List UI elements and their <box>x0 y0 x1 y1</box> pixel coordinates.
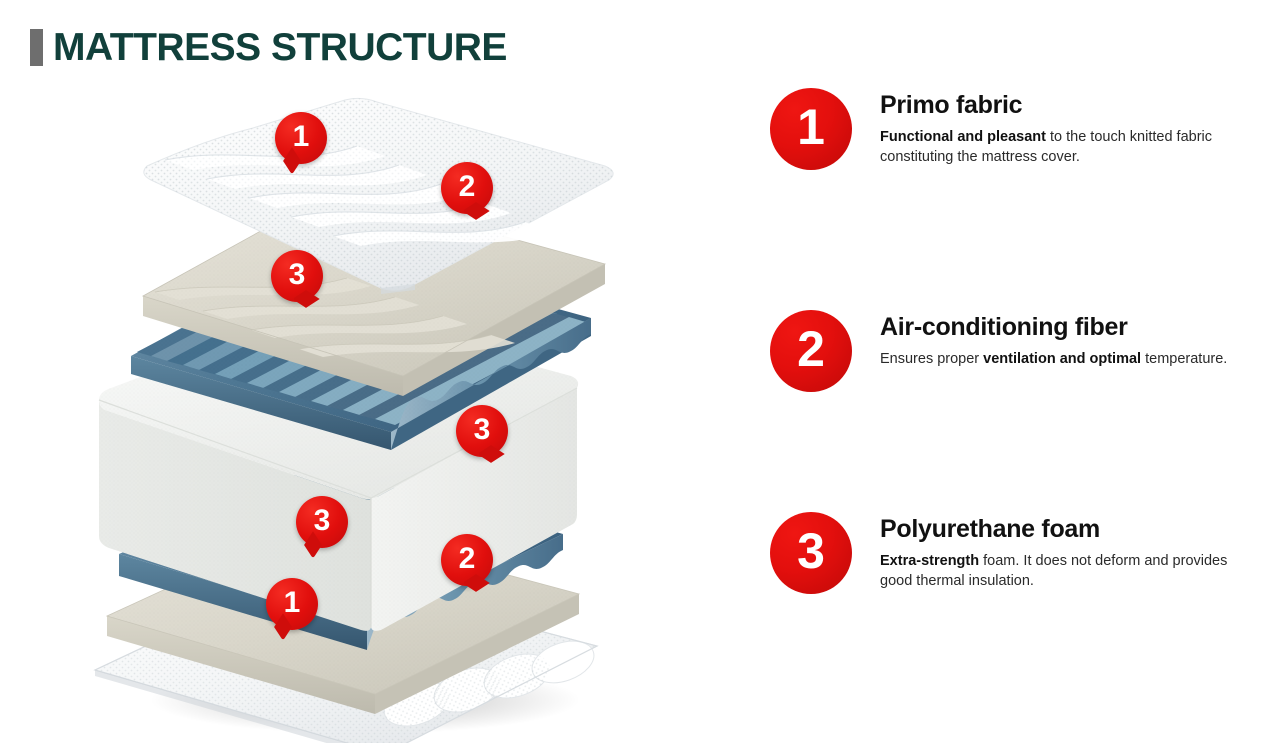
legend-marker-1: 1 <box>770 88 852 170</box>
legend-body-2-bold: ventilation and optimal <box>983 351 1141 367</box>
legend-title-3: Polyurethane foam <box>880 516 1240 544</box>
legend-body-1-bold: Functional and pleasant <box>880 129 1046 145</box>
legend-text-2: Air-conditioning fiber Ensures proper ve… <box>880 310 1227 369</box>
legend-item-primo-fabric[interactable]: 1 Primo fabric Functional and pleasant t… <box>770 88 1240 170</box>
page-title-text: MATTRESS STRUCTURE <box>53 28 507 67</box>
legend-title-2: Air-conditioning fiber <box>880 314 1227 342</box>
legend-marker-3: 3 <box>770 512 852 594</box>
legend-text-3: Polyurethane foam Extra-strength foam. I… <box>880 512 1240 592</box>
mattress-exploded-diagram: 1 2 3 3 3 2 1 <box>85 78 705 718</box>
infographic-page: MATTRESS STRUCTURE <box>0 0 1280 743</box>
diagram-marker-1-top[interactable]: 1 <box>275 112 327 164</box>
diagram-marker-1-bottom[interactable]: 1 <box>266 578 318 630</box>
legend-item-polyurethane-foam[interactable]: 3 Polyurethane foam Extra-strength foam.… <box>770 512 1240 594</box>
page-title: MATTRESS STRUCTURE <box>30 28 507 67</box>
legend-text-1: Primo fabric Functional and pleasant to … <box>880 88 1240 168</box>
legend-body-2-rest: temperature. <box>1141 351 1227 367</box>
diagram-marker-3-core[interactable]: 3 <box>456 405 508 457</box>
legend-item-air-conditioning-fiber[interactable]: 2 Air-conditioning fiber Ensures proper … <box>770 310 1227 392</box>
layer-quilted-cover-top <box>85 88 645 408</box>
legend-marker-2: 2 <box>770 310 852 392</box>
diagram-marker-3-convoluted[interactable]: 3 <box>271 250 323 302</box>
diagram-marker-2-bottom[interactable]: 2 <box>441 534 493 586</box>
legend-body-3: Extra-strength foam. It does not deform … <box>880 551 1240 592</box>
legend-title-1: Primo fabric <box>880 92 1240 120</box>
diagram-marker-2-top[interactable]: 2 <box>441 162 493 214</box>
legend-body-3-bold: Extra-strength <box>880 553 979 569</box>
legend-body-2: Ensures proper ventilation and optimal t… <box>880 349 1227 370</box>
legend-body-2-pre: Ensures proper <box>880 351 983 367</box>
title-accent-bar <box>30 29 43 66</box>
diagram-marker-3-bottom-foam[interactable]: 3 <box>296 496 348 548</box>
legend-body-1: Functional and pleasant to the touch kni… <box>880 127 1240 168</box>
legend-panel: 1 Primo fabric Functional and pleasant t… <box>770 0 1270 743</box>
